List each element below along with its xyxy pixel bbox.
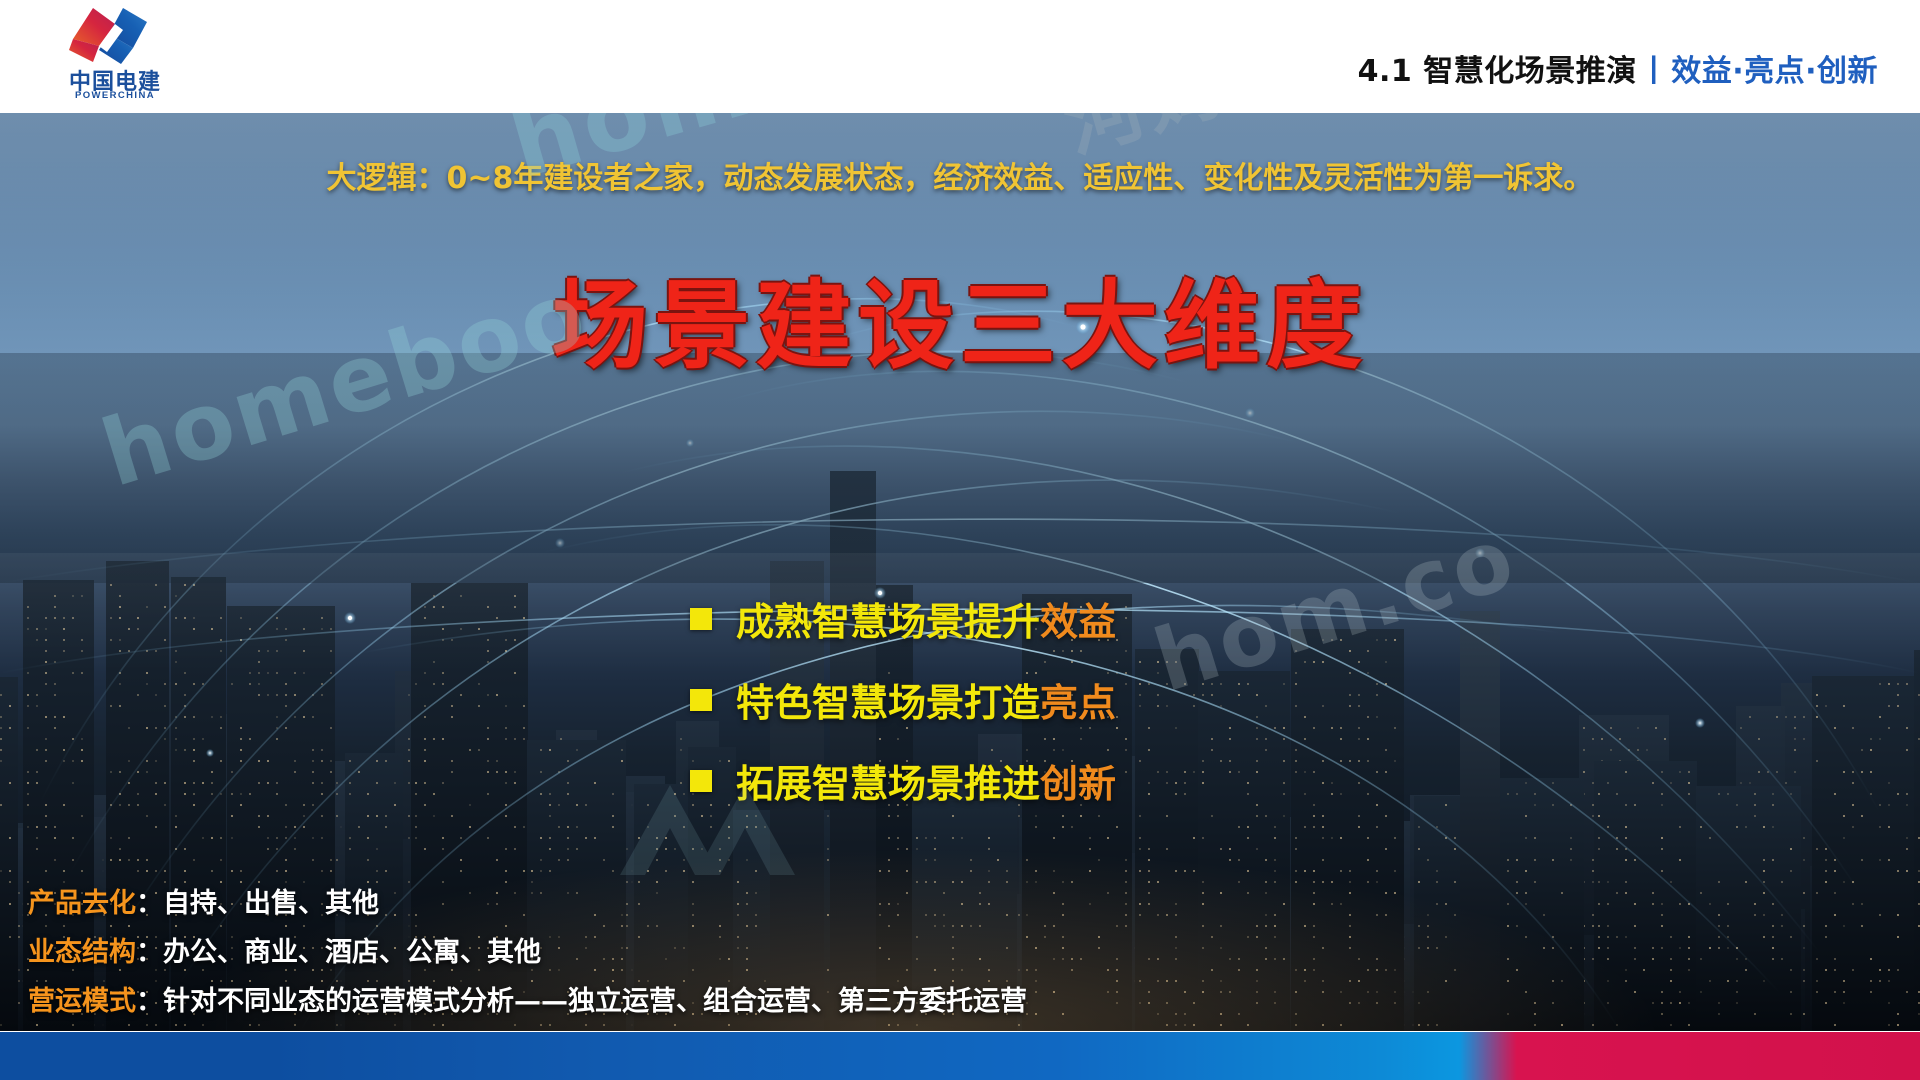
slide-header: 中国电建 POWERCHINA 4.1 智慧化场景推演丨效益·亮点·创新: [0, 0, 1920, 113]
content-band-overlay: [0, 353, 1920, 583]
detail-value: 针对不同业态的运营模式分析——独立运营、组合运营、第三方委托运营: [163, 986, 1027, 1017]
powerchina-diamond-logo: [63, 6, 167, 68]
page-title: 4.1 智慧化场景推演丨效益·亮点·创新: [1358, 46, 1878, 90]
page-title-separator: 丨: [1637, 54, 1672, 89]
list-item: 特色智慧场景打造亮点: [690, 672, 1116, 727]
page-title-prefix: 4.1 智慧化场景推演: [1358, 54, 1637, 89]
footer-accent-left: [0, 1032, 1500, 1080]
footer-bar: [0, 1032, 1920, 1080]
company-logo: 中国电建 POWERCHINA: [55, 2, 175, 110]
slide-subtitle: 大逻辑：0~8年建设者之家，动态发展状态，经济效益、适应性、变化性及灵活性为第一…: [0, 153, 1920, 197]
square-bullet-icon: [690, 689, 712, 711]
detail-separator: ：: [136, 888, 163, 919]
detail-value: 自持、出售、其他: [163, 888, 379, 919]
watermark-logo-icon: [600, 770, 800, 890]
list-item: 成熟智慧场景提升效益: [690, 591, 1116, 646]
detail-label: 产品去化: [28, 888, 136, 919]
background-photo: 大逻辑：0~8年建设者之家，动态发展状态，经济效益、适应性、变化性及灵活性为第一…: [0, 113, 1920, 1031]
bullet-text-main: 特色智慧场景打造: [736, 681, 1040, 725]
bullet-text-main: 成熟智慧场景提升: [736, 600, 1040, 644]
slide-main-title: 场景建设三大维度: [0, 276, 1920, 377]
detail-value: 办公、商业、酒店、公寓、其他: [163, 937, 541, 968]
detail-separator: ：: [136, 937, 163, 968]
detail-label: 业态结构: [28, 937, 136, 968]
detail-list: 产品去化：自持、出售、其他 业态结构：办公、商业、酒店、公寓、其他 营运模式：针…: [28, 881, 1168, 1031]
detail-line: 营运模式：针对不同业态的运营模式分析——独立运营、组合运营、第三方委托运营: [28, 979, 1168, 1018]
logo-text-en: POWERCHINA: [55, 90, 175, 101]
detail-line: 产品去化：自持、出售、其他: [28, 881, 1168, 920]
square-bullet-icon: [690, 608, 712, 630]
detail-line: 业态结构：办公、商业、酒店、公寓、其他: [28, 930, 1168, 969]
bullet-text: 成熟智慧场景提升效益: [736, 591, 1116, 646]
presentation-slide: 中国电建 POWERCHINA 4.1 智慧化场景推演丨效益·亮点·创新: [0, 0, 1920, 1080]
detail-label: 营运模式: [28, 986, 136, 1017]
page-title-accent: 效益·亮点·创新: [1671, 54, 1878, 89]
bullet-text: 特色智慧场景打造亮点: [736, 672, 1116, 727]
bullet-text-highlight: 创新: [1040, 762, 1116, 806]
bullet-text-highlight: 亮点: [1040, 681, 1116, 725]
bullet-text-highlight: 效益: [1040, 600, 1116, 644]
detail-separator: ：: [136, 986, 163, 1017]
